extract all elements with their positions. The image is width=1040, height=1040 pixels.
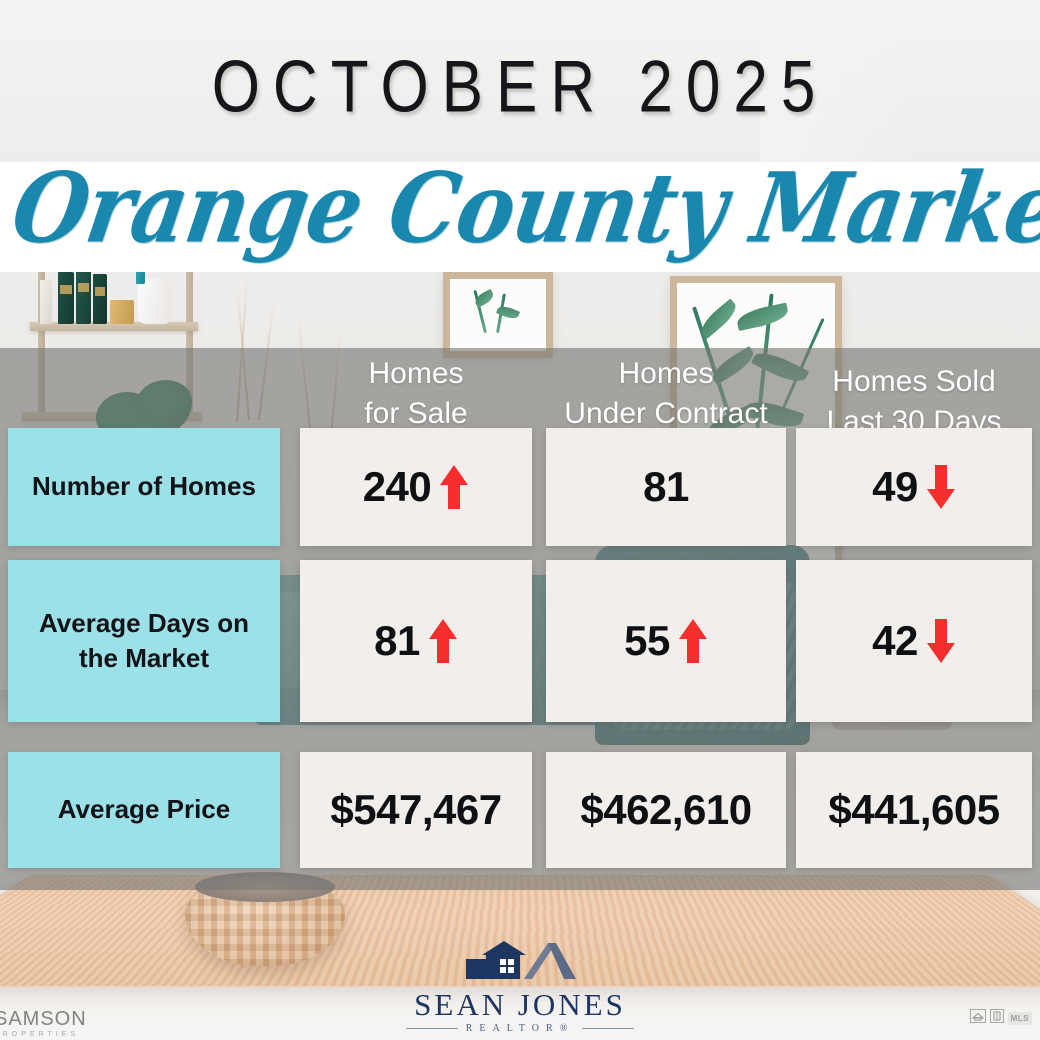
house-roof-icon <box>464 939 576 988</box>
compliance-badges: MLS <box>970 1009 1032 1028</box>
logo-rule-right <box>582 1028 634 1029</box>
logo-rule-left <box>406 1028 458 1029</box>
row-label-average-price: Average Price <box>8 752 280 868</box>
cell-avg-days-sold: 42 <box>796 560 1032 722</box>
brokerage-subtitle: PROPERTIES <box>0 1031 87 1038</box>
book-green-1 <box>58 272 74 324</box>
cell-number-of-homes-for-sale: 240 <box>300 428 532 546</box>
page-title-month: OCTOBER 2025 <box>0 46 1040 130</box>
arrow-down-icon <box>926 463 956 511</box>
cell-value: 49 <box>872 463 918 511</box>
row-label-number-of-homes: Number of Homes <box>8 428 280 546</box>
arrow-up-icon <box>439 463 469 511</box>
column-header-line1: Homes Sold <box>796 362 1032 402</box>
brokerage-name: SAMSON <box>0 1009 87 1029</box>
framed-art-small <box>443 272 553 358</box>
frond-1 <box>697 298 741 339</box>
book-gold-detail-1 <box>60 285 72 294</box>
column-header-under-contract: Homes Under Contract <box>546 354 786 433</box>
arrow-up-icon <box>678 617 708 665</box>
logo-subtitle: REALTOR® <box>406 1023 635 1034</box>
arrow-up-icon <box>428 617 458 665</box>
brass-canister <box>110 300 134 324</box>
cell-value: 55 <box>624 617 670 665</box>
equal-housing-icon <box>970 1009 986 1028</box>
cell-number-of-homes-sold: 49 <box>796 428 1032 546</box>
book-cream <box>40 280 52 324</box>
logo-subtitle-text: REALTOR® <box>466 1023 575 1034</box>
cell-value: 42 <box>872 617 918 665</box>
mls-badge: MLS <box>1008 1012 1032 1025</box>
column-header-homes-for-sale: Homes for Sale <box>300 354 532 433</box>
cell-avg-price-for-sale: $547,467 <box>300 752 532 868</box>
cell-avg-days-for-sale: 81 <box>300 560 532 722</box>
book-gold-detail-3 <box>95 287 105 296</box>
brokerage-watermark: SAMSON PROPERTIES <box>0 1009 87 1038</box>
cell-value: $547,467 <box>330 786 501 834</box>
cell-value: $441,605 <box>828 786 999 834</box>
cell-avg-price-under-contract: $462,610 <box>546 752 786 868</box>
brand-logo: SEAN JONES REALTOR® <box>0 939 1040 1034</box>
cell-value: 81 <box>374 617 420 665</box>
book-green-2 <box>76 270 91 324</box>
book-green-3 <box>93 274 107 324</box>
book-gold-detail-2 <box>78 283 89 292</box>
market-report-infographic: OCTOBER 2025 Orange County Market Report… <box>0 0 1040 1040</box>
market-stats-table: Homes for Sale Homes Under Contract Home… <box>0 348 1040 890</box>
column-header-line1: Homes <box>546 354 786 394</box>
logo-name-text: SEAN JONES <box>414 989 626 1020</box>
cell-value: 81 <box>643 463 689 511</box>
arrow-down-icon <box>926 617 956 665</box>
report-script-title: Orange County Market Report <box>5 152 1040 265</box>
frond-2 <box>735 303 790 331</box>
column-header-line1: Homes <box>300 354 532 394</box>
cell-avg-price-sold: $441,605 <box>796 752 1032 868</box>
row-label-average-days-on-market: Average Days on the Market <box>8 560 280 722</box>
cell-value: 240 <box>363 463 432 511</box>
cell-avg-days-under-contract: 55 <box>546 560 786 722</box>
cell-value: $462,610 <box>580 786 751 834</box>
realtor-icon <box>990 1009 1004 1028</box>
cell-number-of-homes-under-contract: 81 <box>546 428 786 546</box>
vase-white <box>138 278 172 324</box>
